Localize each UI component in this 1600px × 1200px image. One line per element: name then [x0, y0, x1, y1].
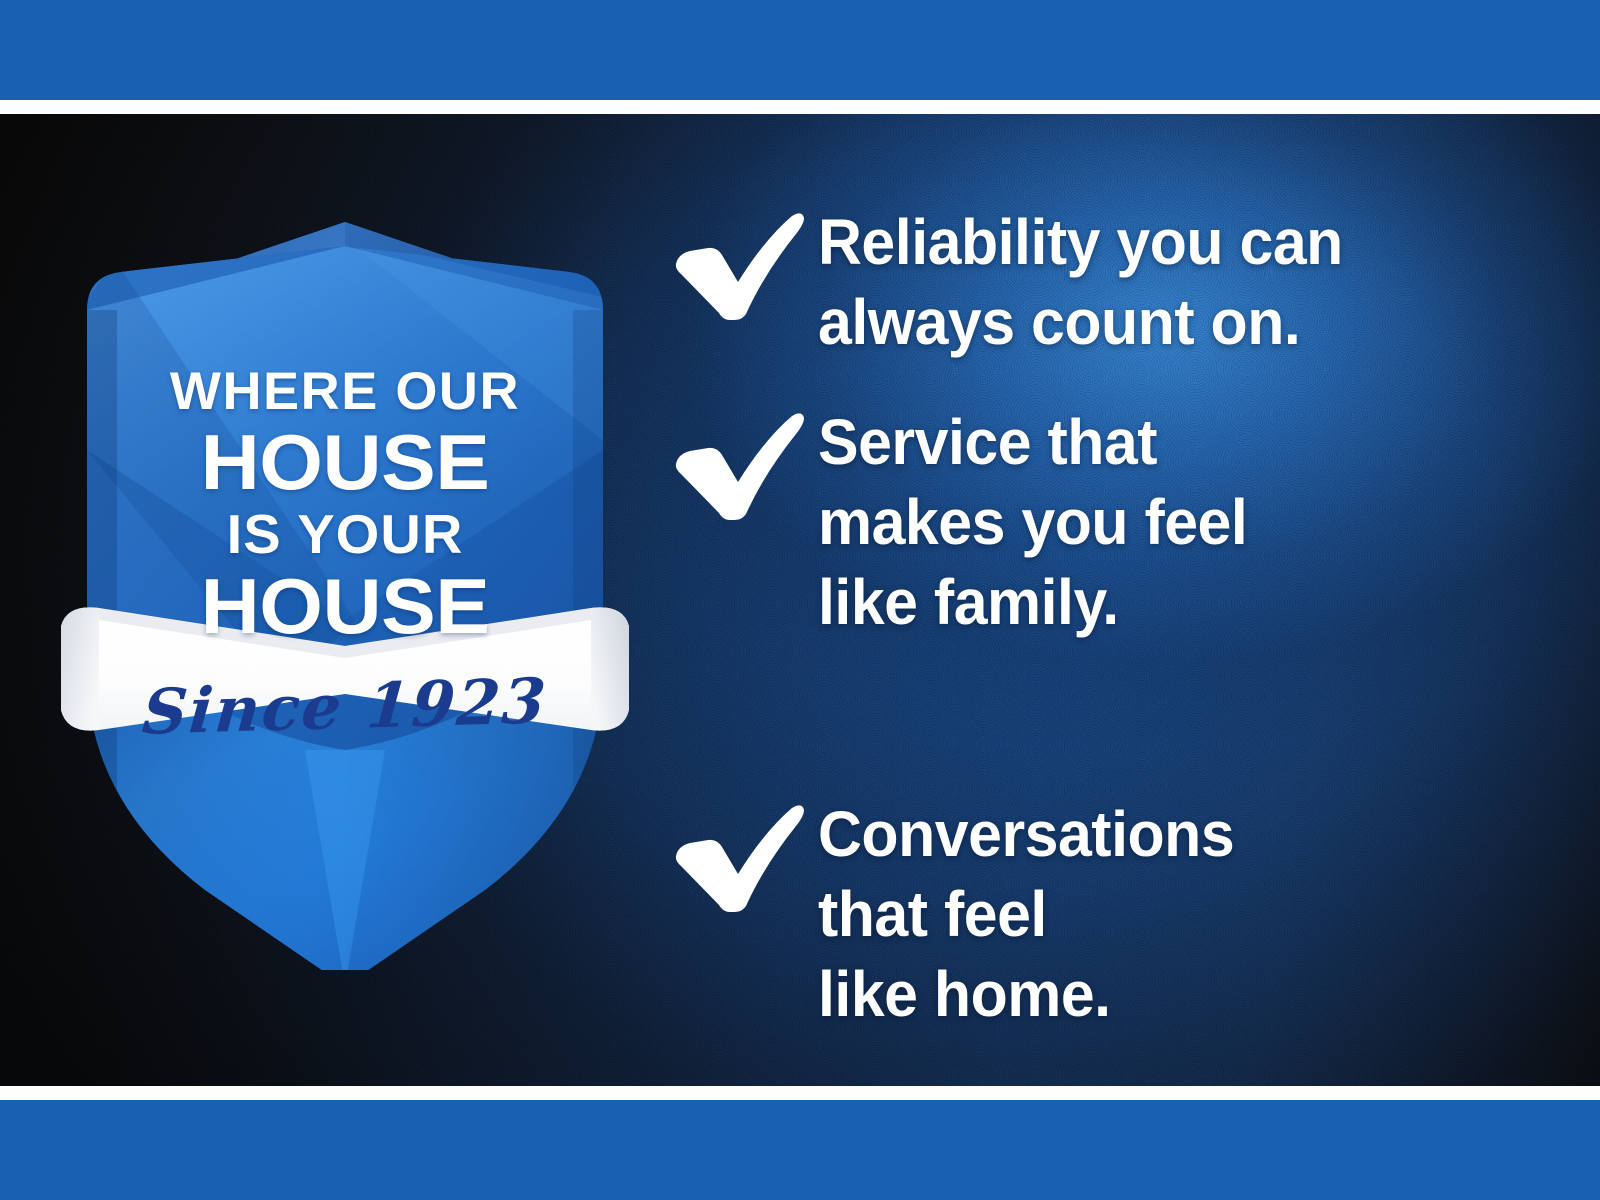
top-brand-bar: [0, 0, 1600, 100]
benefit-text: Service that makes you feel like family.: [818, 402, 1247, 642]
checkmark-icon: [668, 208, 818, 362]
benefit-item: Conversations that feel like home.: [668, 800, 1568, 1034]
checkmark-icon: [668, 408, 818, 642]
shield-logo: WHERE OUR HOUSE IS YOUR HOUSE Since 1923: [55, 150, 635, 970]
promo-graphic: WHERE OUR HOUSE IS YOUR HOUSE Since 1923…: [0, 0, 1600, 1200]
benefit-text: Conversations that feel like home.: [818, 794, 1234, 1034]
benefit-item: Service that makes you feel like family.: [668, 408, 1568, 642]
benefits-list: Reliability you can always count on. Ser…: [668, 150, 1568, 1050]
shield-badge-graphic: [55, 150, 635, 970]
benefit-item: Reliability you can always count on.: [668, 208, 1568, 362]
top-white-rule: [0, 100, 1600, 114]
bottom-white-rule: [0, 1086, 1600, 1100]
bottom-brand-bar: [0, 1100, 1600, 1200]
checkmark-icon: [668, 800, 818, 1034]
benefit-text: Reliability you can always count on.: [818, 202, 1343, 362]
